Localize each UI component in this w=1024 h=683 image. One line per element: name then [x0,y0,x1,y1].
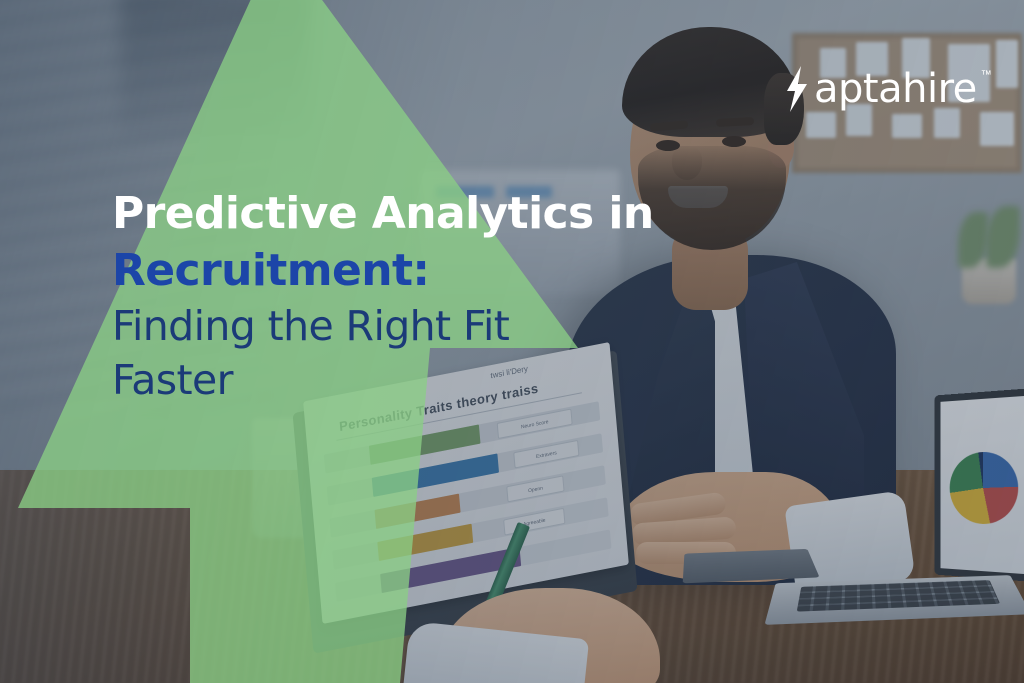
headline-line-2: Recruitment: [112,242,732,300]
logo-trademark: ™ [981,70,992,81]
headline-line-4: Faster [112,354,732,407]
blog-hero-banner: twsi li'Dery Personality Traits theory t… [0,0,1024,683]
headline-line-3: Finding the Right Fit [112,300,732,353]
aptahire-logo[interactable]: aptahire ™ [784,66,992,112]
headline-block: Predictive Analytics in Recruitment: Fin… [112,186,732,407]
headline-line-1: Predictive Analytics in [112,186,732,242]
lightning-bolt-icon [784,66,810,112]
logo-wordmark: aptahire [814,69,977,109]
